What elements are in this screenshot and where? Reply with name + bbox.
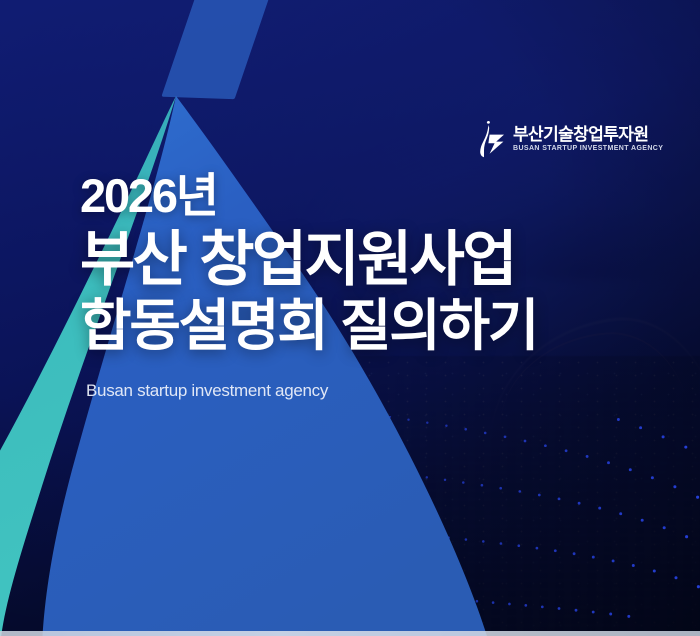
logo-text-block: 부산기술창업투자원 BUSAN STARTUP INVESTMENT AGENC… xyxy=(513,126,663,152)
headline-subtitle: Busan startup investment agency xyxy=(86,381,680,401)
agency-logo: 부산기술창업투자원 BUSAN STARTUP INVESTMENT AGENC… xyxy=(478,120,663,158)
logo-english-name: BUSAN STARTUP INVESTMENT AGENCY xyxy=(513,145,663,152)
logo-korean-name: 부산기술창업투자원 xyxy=(513,126,663,143)
busan-flame-mark-icon xyxy=(478,120,506,158)
promo-poster: 부산기술창업투자원 BUSAN STARTUP INVESTMENT AGENC… xyxy=(0,0,700,636)
headline-line-1: 부산 창업지원사업 xyxy=(80,225,680,295)
headline-block: 2026년 부산 창업지원사업 합동설명회 질의하기 Busan startup… xyxy=(80,172,680,401)
headline-year: 2026년 xyxy=(80,172,680,221)
headline-line-2: 합동설명회 질의하기 xyxy=(80,294,680,359)
bottom-strip xyxy=(0,631,700,636)
